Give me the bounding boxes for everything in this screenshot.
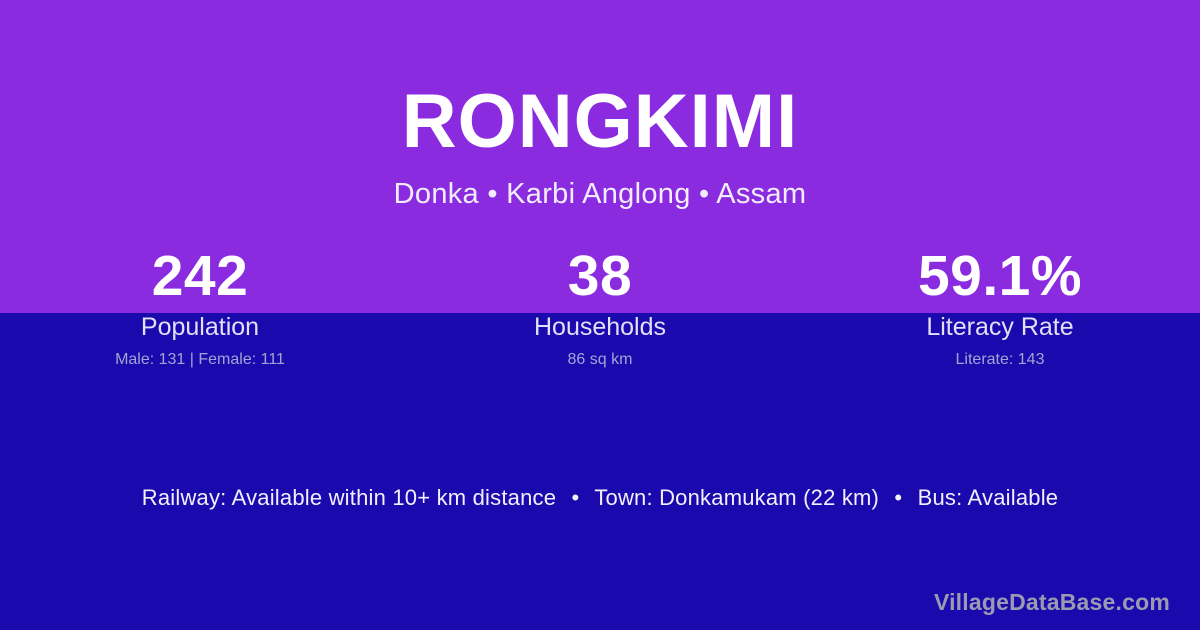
stat-literacy-label: Literacy Rate	[800, 313, 1200, 342]
stat-population-breakdown: Male: 131 | Female: 111	[0, 351, 400, 369]
stats-row: 242 Population Male: 131 | Female: 111 3…	[0, 243, 1200, 369]
stat-population-value: 242	[0, 243, 400, 310]
infra-separator-1: •	[562, 485, 588, 511]
infra-separator-2: •	[885, 485, 911, 511]
card-header: RONGKIMI Donka • Karbi Anglong • Assam	[0, 0, 1200, 211]
stat-population-label: Population	[0, 313, 400, 342]
village-info-card: RONGKIMI Donka • Karbi Anglong • Assam 2…	[0, 0, 1200, 630]
breadcrumb: Donka • Karbi Anglong • Assam	[0, 178, 1200, 211]
infra-bus: Bus: Available	[918, 485, 1059, 510]
infra-town: Town: Donkamukam (22 km)	[594, 485, 879, 510]
stat-households: 38 Households 86 sq km	[400, 243, 800, 369]
stat-literacy: 59.1% Literacy Rate Literate: 143	[800, 243, 1200, 369]
infrastructure-line: Railway: Available within 10+ km distanc…	[0, 485, 1200, 511]
stat-literacy-count: Literate: 143	[800, 351, 1200, 369]
stat-households-label: Households	[400, 313, 800, 342]
stat-literacy-value: 59.1%	[800, 243, 1200, 310]
stat-households-area: 86 sq km	[400, 351, 800, 369]
site-watermark: VillageDataBase.com	[934, 589, 1170, 616]
page-title: RONGKIMI	[0, 82, 1200, 162]
stat-population: 242 Population Male: 131 | Female: 111	[0, 243, 400, 369]
infra-railway: Railway: Available within 10+ km distanc…	[142, 485, 556, 510]
stat-households-value: 38	[400, 243, 800, 310]
